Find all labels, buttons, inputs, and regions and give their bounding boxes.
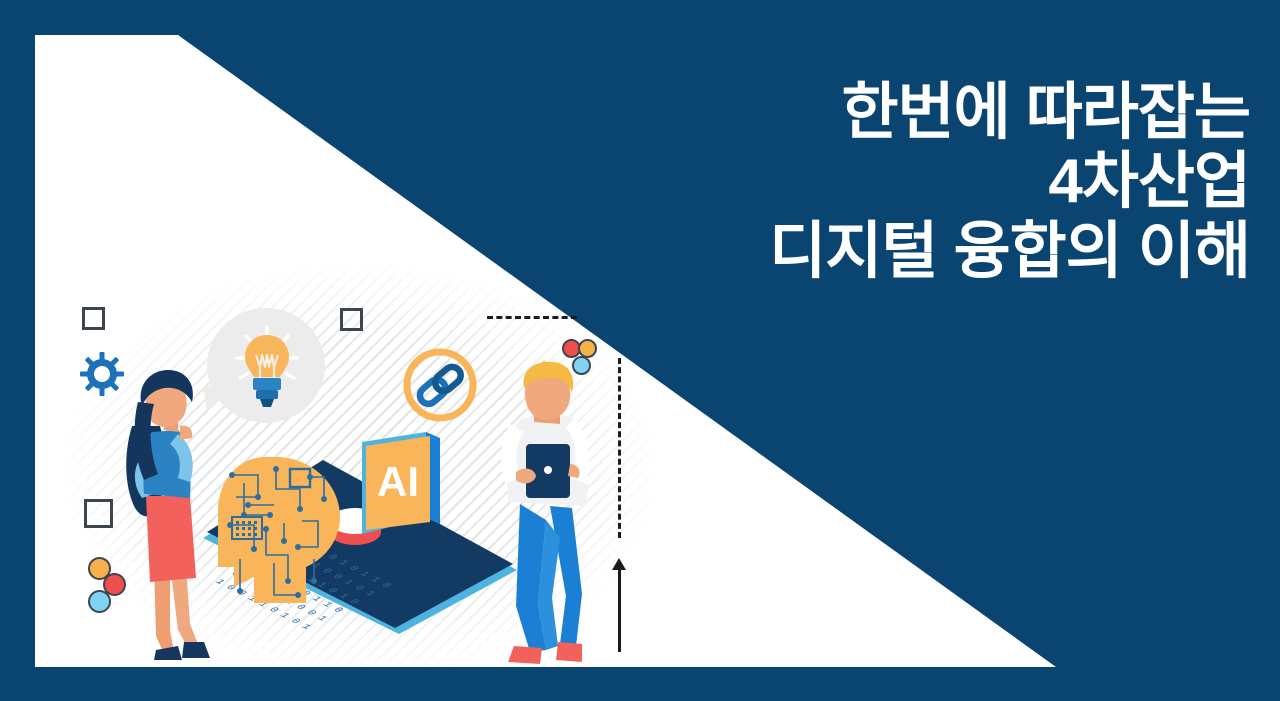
title-line-3: 디지털 융합의 이해 (590, 217, 1250, 286)
arrow-up-shaft (618, 570, 621, 652)
square-outline-right (340, 308, 363, 331)
ai-circuit-head-icon (214, 455, 354, 615)
page-title: 한번에 따라잡는 4차산업 디지털 융합의 이해 (590, 78, 1250, 286)
woman-thinking-figure (112, 368, 222, 668)
ai-panel: AI (360, 430, 450, 550)
banner-root: 0 1 0 0 1 0 1 1 0 1 0 1 1 0 0 1 0 1 0 0 … (0, 0, 1280, 701)
dashed-line-horizontal (487, 316, 577, 319)
accent-dot-cyan-left (88, 590, 111, 613)
dashed-line-vertical (618, 358, 621, 538)
square-outline-top (82, 307, 105, 330)
lightbulb-icon (235, 325, 299, 411)
square-outline-mid (84, 499, 113, 528)
title-line-2: 4차산업 (590, 147, 1250, 216)
title-line-1: 한번에 따라잡는 (590, 78, 1250, 147)
arrow-up-icon (612, 558, 626, 570)
ai-panel-label: AI (377, 458, 419, 505)
man-tablet-figure (494, 360, 604, 668)
chain-link-icon (400, 345, 480, 425)
